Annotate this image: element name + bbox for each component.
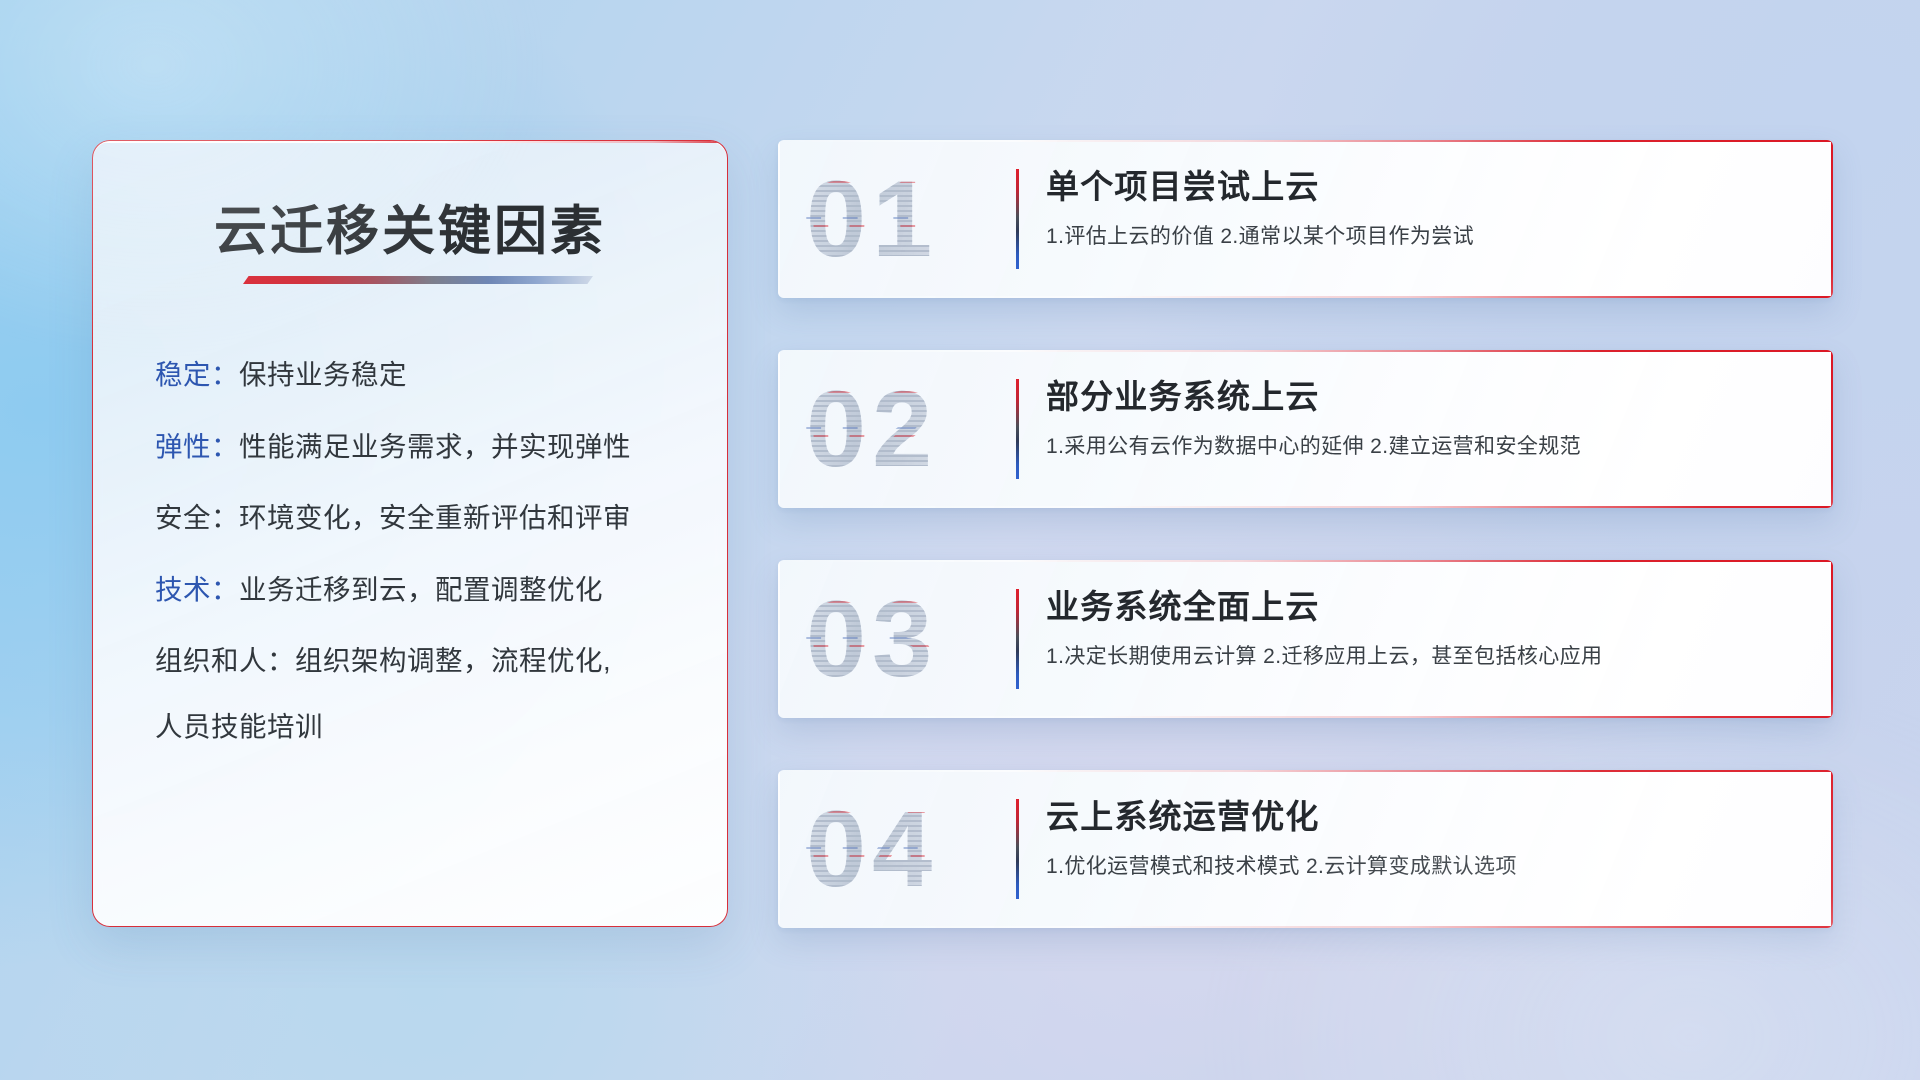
list-item: 技术：业务迁移到云，配置调整优化 xyxy=(155,576,687,604)
card-top-border xyxy=(778,770,1833,772)
card-accent-divider xyxy=(1016,379,1019,479)
card-left-border xyxy=(778,140,780,298)
card-subtitle: 1.采用公有云作为数据中心的延伸 2.建立运营和安全规范 xyxy=(1046,434,1793,459)
stage-number: 02 xyxy=(806,375,938,483)
card-bottom-border xyxy=(778,296,1833,298)
list-item-label: 组织和人： xyxy=(155,645,295,676)
list-item: 稳定：保持业务稳定 xyxy=(155,361,687,389)
card-top-border xyxy=(778,140,1833,142)
list-item: 安全：环境变化，安全重新评估和评审 xyxy=(155,504,687,532)
stage-card-04[interactable]: 04 04 04 云上系统运营优化 1.优化运营模式和技术模式 2.云计算变成默… xyxy=(778,770,1833,928)
stage-card-02[interactable]: 02 02 02 部分业务系统上云 1.采用公有云作为数据中心的延伸 2.建立运… xyxy=(778,350,1833,508)
page-title: 云迁移关键因素 xyxy=(93,189,727,265)
key-factors-list: 稳定：保持业务稳定 弹性：性能满足业务需求，并实现弹性 安全：环境变化，安全重新… xyxy=(155,361,687,740)
stage-number: 03 xyxy=(806,585,938,693)
card-right-border xyxy=(1831,350,1833,508)
list-item-text: 性能满足业务需求，并实现弹性 xyxy=(239,431,631,462)
list-item-continuation: 人员技能培训 xyxy=(155,713,687,741)
card-bottom-border xyxy=(778,506,1833,508)
key-factors-panel: 云迁移关键因素 稳定：保持业务稳定 弹性：性能满足业务需求，并实现弹性 安全：环… xyxy=(92,140,728,927)
card-right-border xyxy=(1831,140,1833,298)
card-heading: 业务系统全面上云 xyxy=(1046,588,1793,626)
stage-number: 01 xyxy=(806,165,938,273)
card-right-border xyxy=(1831,560,1833,718)
list-item-text: 人员技能培训 xyxy=(155,711,323,742)
card-body: 云上系统运营优化 1.优化运营模式和技术模式 2.云计算变成默认选项 xyxy=(1046,798,1793,879)
stage-card-03[interactable]: 03 03 03 业务系统全面上云 1.决定长期使用云计算 2.迁移应用上云，甚… xyxy=(778,560,1833,718)
list-item-label: 安全： xyxy=(155,502,239,533)
card-bottom-border xyxy=(778,926,1833,928)
list-item-label: 技术： xyxy=(155,574,239,605)
migration-stage-card-list: 01 01 01 单个项目尝试上云 1.评估上云的价值 2.通常以某个项目作为尝… xyxy=(778,140,1833,928)
card-heading: 云上系统运营优化 xyxy=(1046,798,1793,836)
card-body: 单个项目尝试上云 1.评估上云的价值 2.通常以某个项目作为尝试 xyxy=(1046,168,1793,249)
card-subtitle: 1.决定长期使用云计算 2.迁移应用上云，甚至包括核心应用 xyxy=(1046,644,1793,669)
slide-canvas: 云迁移关键因素 稳定：保持业务稳定 弹性：性能满足业务需求，并实现弹性 安全：环… xyxy=(0,0,1920,1080)
card-subtitle: 1.优化运营模式和技术模式 2.云计算变成默认选项 xyxy=(1046,854,1793,879)
card-top-border xyxy=(778,560,1833,562)
stage-card-01[interactable]: 01 01 01 单个项目尝试上云 1.评估上云的价值 2.通常以某个项目作为尝… xyxy=(778,140,1833,298)
stage-number: 04 xyxy=(806,795,938,903)
title-underline-gradient xyxy=(243,276,593,284)
list-item-text: 环境变化，安全重新评估和评审 xyxy=(239,502,631,533)
list-item-text: 保持业务稳定 xyxy=(239,359,407,390)
card-accent-divider xyxy=(1016,589,1019,689)
list-item: 组织和人：组织架构调整，流程优化, xyxy=(155,647,687,675)
card-bottom-border xyxy=(778,716,1833,718)
card-body: 部分业务系统上云 1.采用公有云作为数据中心的延伸 2.建立运营和安全规范 xyxy=(1046,378,1793,459)
card-heading: 单个项目尝试上云 xyxy=(1046,168,1793,206)
card-right-border xyxy=(1831,770,1833,928)
list-item: 弹性：性能满足业务需求，并实现弹性 xyxy=(155,433,687,461)
card-subtitle: 1.评估上云的价值 2.通常以某个项目作为尝试 xyxy=(1046,224,1793,249)
list-item-text: 组织架构调整，流程优化, xyxy=(295,645,611,676)
card-left-border xyxy=(778,560,780,718)
card-accent-divider xyxy=(1016,799,1019,899)
card-left-border xyxy=(778,770,780,928)
card-top-border xyxy=(778,350,1833,352)
list-item-label: 弹性： xyxy=(155,431,239,462)
card-body: 业务系统全面上云 1.决定长期使用云计算 2.迁移应用上云，甚至包括核心应用 xyxy=(1046,588,1793,669)
list-item-text: 业务迁移到云，配置调整优化 xyxy=(239,574,603,605)
panel-top-edge xyxy=(92,140,728,143)
list-item-label: 稳定： xyxy=(155,359,239,390)
card-left-border xyxy=(778,350,780,508)
card-accent-divider xyxy=(1016,169,1019,269)
card-heading: 部分业务系统上云 xyxy=(1046,378,1793,416)
